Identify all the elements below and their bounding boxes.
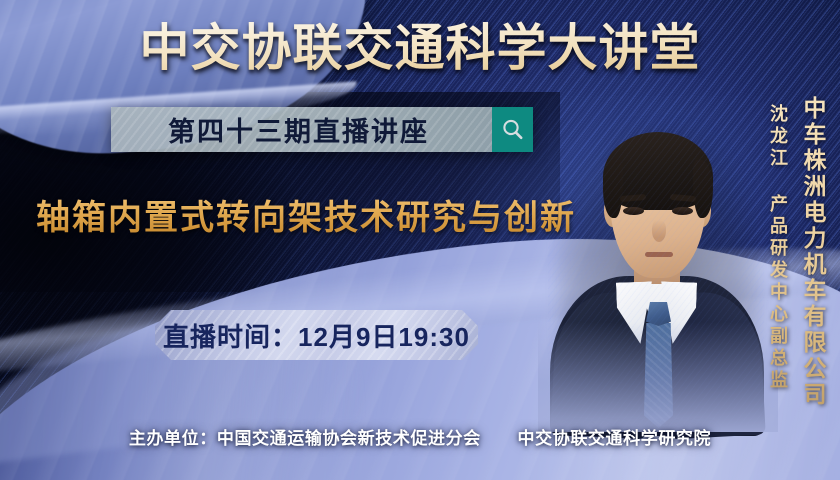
organizer-footer-prefix: 主办单位：中国交通运输协会新技术促进分会 — [129, 429, 481, 448]
organizer-footer-suffix: 中交协联交通科学研究院 — [518, 429, 712, 448]
portrait-necktie-knot — [646, 302, 671, 326]
session-banner-label: 第四十三期直播讲座 — [111, 107, 492, 152]
lecture-title: 轴箱内置式转向架技术研究与创新 — [36, 196, 576, 240]
portrait-nose — [652, 220, 666, 242]
speaker-company: 中车株洲电力机车有限公司 — [796, 96, 830, 408]
broadcast-time-label: 直播时间：12月9日19:30 — [163, 317, 470, 354]
portrait-hair-side-left — [603, 160, 623, 218]
portrait-mouth — [645, 252, 673, 257]
search-icon[interactable] — [492, 107, 533, 152]
livestream-poster: 中交协联交通科学大讲堂 中交协联交通科学大讲堂 第四十三期直播讲座 轴箱内置式转… — [0, 0, 840, 480]
speaker-portrait — [548, 96, 764, 426]
portrait-eye-left — [623, 207, 644, 215]
portrait-eye-right — [672, 207, 693, 215]
organizer-footer: 主办单位：中国交通运输协会新技术促进分会 中交协联交通科学研究院 — [0, 424, 840, 449]
page-title: 中交协联交通科学大讲堂 — [0, 17, 840, 79]
portrait-necktie — [644, 323, 673, 428]
session-banner: 第四十三期直播讲座 — [111, 107, 533, 152]
speaker-name-role: 沈龙江 产品研发中心副总监 — [765, 104, 791, 392]
broadcast-time-badge: 直播时间：12月9日19:30 — [155, 310, 478, 360]
